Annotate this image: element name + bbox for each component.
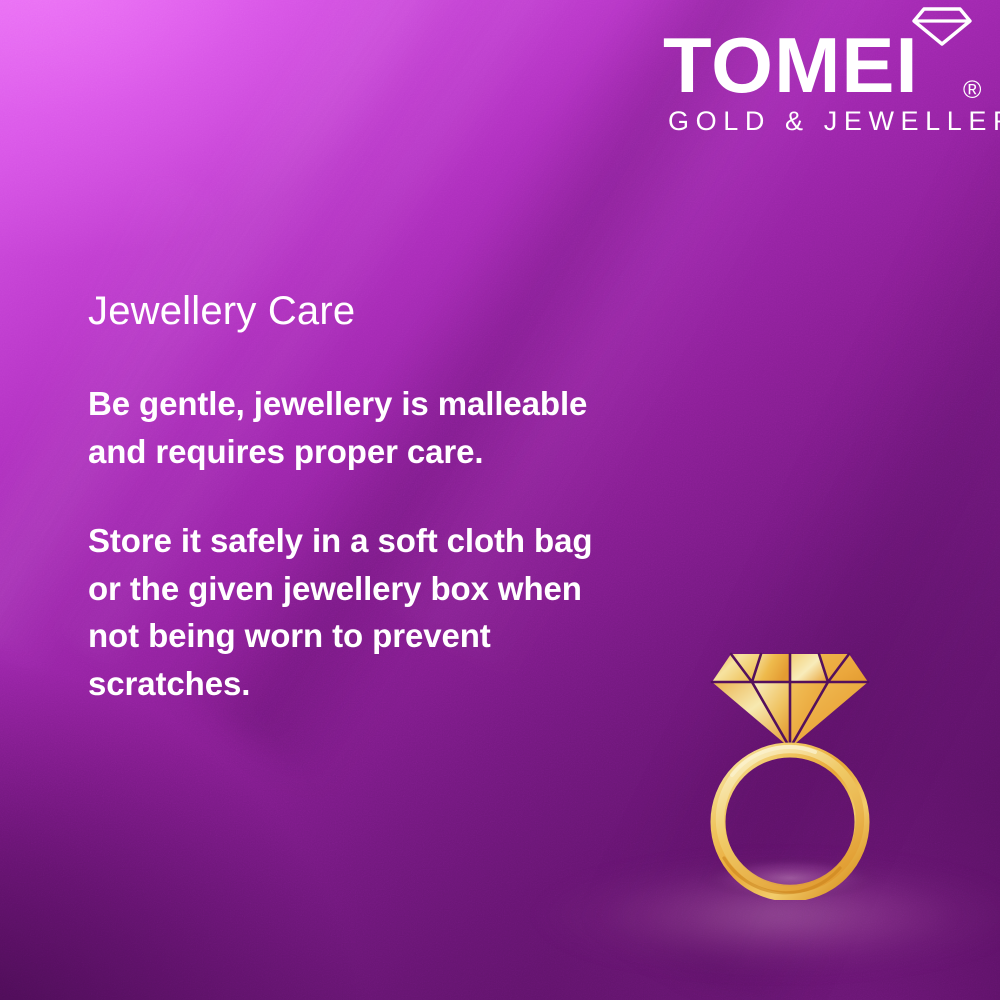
brand-wordmark: TOMEI — [663, 26, 919, 104]
registered-trademark-symbol: ® — [963, 78, 981, 103]
jewellery-care-poster: TOMEI ® GOLD & JEWELLERY Jewellery Care … — [0, 0, 1000, 1000]
diamond-ring-illustration — [690, 640, 890, 900]
body-paragraph-1: Be gentle, jewellery is malleable and re… — [88, 380, 648, 475]
brand-logo[interactable]: TOMEI ® GOLD & JEWELLERY — [663, 4, 993, 144]
gold-diamond-icon — [712, 654, 868, 748]
body-paragraph-2: Store it safely in a soft cloth bag or t… — [88, 517, 648, 707]
diamond-outline-icon — [911, 6, 973, 46]
page-title: Jewellery Care — [88, 288, 648, 334]
copy-block: Jewellery Care Be gentle, jewellery is m… — [88, 288, 648, 707]
brand-tagline: GOLD & JEWELLERY — [668, 108, 1000, 135]
